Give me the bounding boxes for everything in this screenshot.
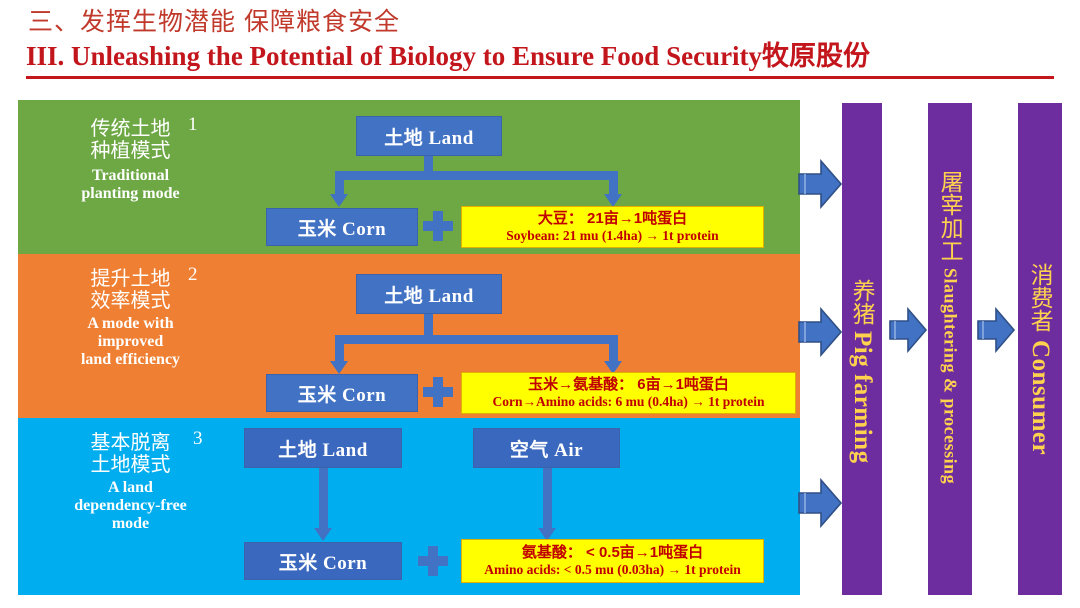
mode-row-improved-efficiency: 提升土地 效率模式 A mode with improved land effi… — [18, 254, 800, 418]
mode-2-callout-en: Corn→Amino acids: 6 mu (0.4ha) → 1t prot… — [492, 394, 764, 410]
mode-row-traditional: 传统土地 种植模式 Traditional planting mode 1 土地… — [18, 100, 800, 254]
mode-2-connector-bar — [335, 335, 618, 344]
mode-1-label-en-2: planting mode — [28, 185, 233, 203]
mode-3-callout-cn: 氨基酸： < 0.5亩→1吨蛋白 — [522, 544, 703, 561]
mode-2-label-cn-2: 效率模式 — [28, 290, 233, 312]
mode-1-callout-en: Soybean: 21 mu (1.4ha) → 1t protein — [506, 228, 718, 244]
mode-3-label-en-2: dependency-free — [28, 497, 233, 515]
flow-arrow-row2-icon — [797, 306, 843, 358]
mode-2-output-box[interactable]: 玉米 Corn — [266, 374, 418, 412]
mode-1-plus-icon — [423, 211, 453, 241]
flow-column-consumer[interactable]: 消费者 Consumer — [1018, 103, 1062, 595]
mode-2-callout-cn: 玉米→氨基酸： 6亩→1吨蛋白 — [528, 376, 729, 393]
flow-arrow-farming-to-slaughter-icon — [888, 306, 928, 354]
mode-1-label: 传统土地 种植模式 Traditional planting mode — [28, 118, 233, 203]
mode-3-source-box-2[interactable]: 空气 Air — [473, 428, 620, 468]
flow-column-slaughtering[interactable]: 屠宰加工 Slaughtering & processing — [928, 103, 972, 595]
mode-1-arrowhead-left — [330, 194, 348, 207]
flow-column-2-label-en: Slaughtering & processing — [939, 268, 960, 484]
page-title-english: III. Unleashing the Potential of Biology… — [26, 34, 870, 73]
mode-3-label-cn-2: 土地模式 — [28, 454, 233, 476]
mode-3-connector-right — [543, 468, 552, 530]
flow-column-2-label-cn: 屠宰加工 — [938, 170, 962, 262]
mode-3-arrowhead-left — [314, 528, 332, 541]
mode-1-callout-cn: 大豆： 21亩→1吨蛋白 — [538, 210, 687, 227]
mode-2-label-en-3: land efficiency — [28, 351, 233, 369]
mode-1-connector-bar — [335, 171, 618, 180]
mode-3-callout: 氨基酸： < 0.5亩→1吨蛋白 Amino acids: < 0.5 mu (… — [461, 539, 764, 583]
mode-1-connector-leg-right — [609, 171, 618, 196]
flow-column-3-label-cn: 消费者 — [1028, 263, 1052, 332]
mode-2-connector-leg-right — [609, 335, 618, 363]
mode-3-plus-icon — [418, 546, 448, 576]
mode-3-connector-left — [319, 468, 328, 530]
mode-3-callout-en: Amino acids: < 0.5 mu (0.03ha) → 1t prot… — [484, 562, 740, 578]
mode-row-land-free: 基本脱离 土地模式 A land dependency-free mode 3 … — [18, 418, 800, 595]
mode-3-number: 3 — [193, 428, 203, 450]
mode-3-output-box[interactable]: 玉米 Corn — [244, 542, 402, 580]
mode-3-source-box[interactable]: 土地 Land — [244, 428, 402, 468]
title-block: 三、发挥生物潜能 保障粮食安全 III. Unleashing the Pote… — [0, 0, 1080, 90]
mode-2-label-cn-1: 提升土地 — [28, 268, 233, 290]
mode-2-connector-leg-left — [335, 335, 344, 363]
flow-column-1-label-en: Pig farming — [848, 331, 876, 464]
mode-1-connector-leg-left — [335, 171, 344, 196]
mode-1-output-box[interactable]: 玉米 Corn — [266, 208, 418, 246]
mode-3-label-en-1: A land — [28, 479, 233, 497]
flow-arrow-slaughter-to-consumer-icon — [976, 306, 1016, 354]
mode-2-plus-icon — [423, 377, 453, 407]
mode-2-number: 2 — [188, 264, 198, 286]
page-title-chinese: 三、发挥生物潜能 保障粮食安全 — [28, 2, 400, 38]
mode-2-callout: 玉米→氨基酸： 6亩→1吨蛋白 Corn→Amino acids: 6 mu (… — [461, 372, 796, 414]
mode-1-number: 1 — [188, 114, 198, 136]
mode-1-label-en-1: Traditional — [28, 167, 233, 185]
mode-1-label-cn-1: 传统土地 — [28, 118, 233, 140]
mode-2-label-en-2: improved — [28, 333, 233, 351]
modes-panel: 传统土地 种植模式 Traditional planting mode 1 土地… — [18, 100, 800, 595]
mode-2-label-en-1: A mode with — [28, 315, 233, 333]
mode-2-label: 提升土地 效率模式 A mode with improved land effi… — [28, 268, 233, 369]
mode-2-source-box[interactable]: 土地 Land — [356, 274, 502, 314]
mode-1-label-cn-2: 种植模式 — [28, 140, 233, 162]
flow-arrow-row1-icon — [797, 158, 843, 210]
mode-3-label-en-3: mode — [28, 515, 233, 533]
mode-2-arrowhead-left — [330, 361, 348, 374]
title-divider — [26, 76, 1054, 79]
flow-column-1-label-cn: 养猪 — [850, 279, 874, 325]
flow-arrow-row3-icon — [797, 477, 843, 529]
mode-1-callout: 大豆： 21亩→1吨蛋白 Soybean: 21 mu (1.4ha) → 1t… — [461, 206, 764, 248]
flow-column-pig-farming[interactable]: 养猪 Pig farming — [842, 103, 882, 595]
mode-1-source-box[interactable]: 土地 Land — [356, 116, 502, 156]
flow-column-3-label-en: Consumer — [1026, 340, 1054, 455]
